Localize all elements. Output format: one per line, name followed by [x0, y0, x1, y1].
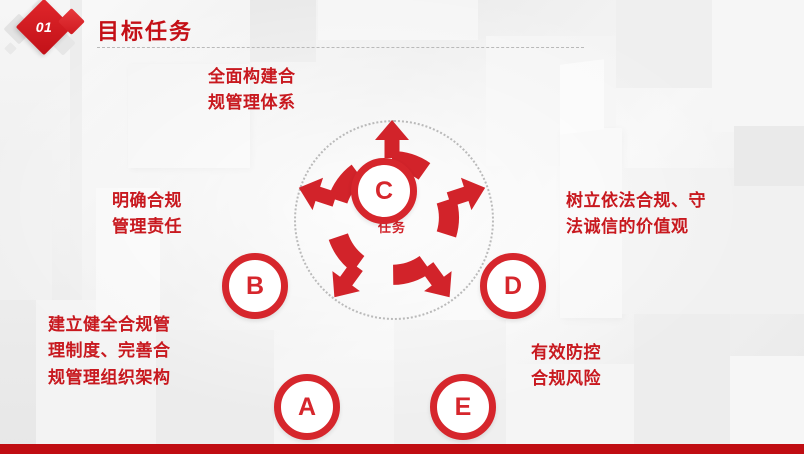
slide-canvas: 01 目标任务 [0, 0, 804, 454]
title-divider [97, 47, 584, 48]
caption-node-a: 建立健全合规管 理制度、完善合 规管理组织架构 [48, 312, 171, 391]
slide-header: 01 目标任务 [0, 0, 804, 58]
page-title: 目标任务 [97, 14, 193, 46]
node-e[interactable]: E [430, 374, 496, 440]
node-b[interactable]: B [222, 253, 288, 319]
caption-node-e: 有效防控 合规风险 [531, 340, 601, 393]
decor-diamond-grey-small [4, 42, 17, 55]
node-d[interactable]: D [480, 253, 546, 319]
target-task-diagram: 目标 任务 C B A D E 全面构建合 规管理体系 明确合规 管理责任 建立… [0, 58, 804, 444]
caption-node-b: 明确合规 管理责任 [112, 188, 182, 241]
footer-accent-bar [0, 444, 804, 454]
node-a[interactable]: A [274, 374, 340, 440]
section-badge-number: 01 [24, 7, 64, 47]
caption-node-c: 全面构建合 规管理体系 [208, 64, 296, 117]
node-c[interactable]: C [351, 158, 417, 224]
caption-node-d: 树立依法合规、守 法诚信的价值观 [566, 188, 706, 241]
